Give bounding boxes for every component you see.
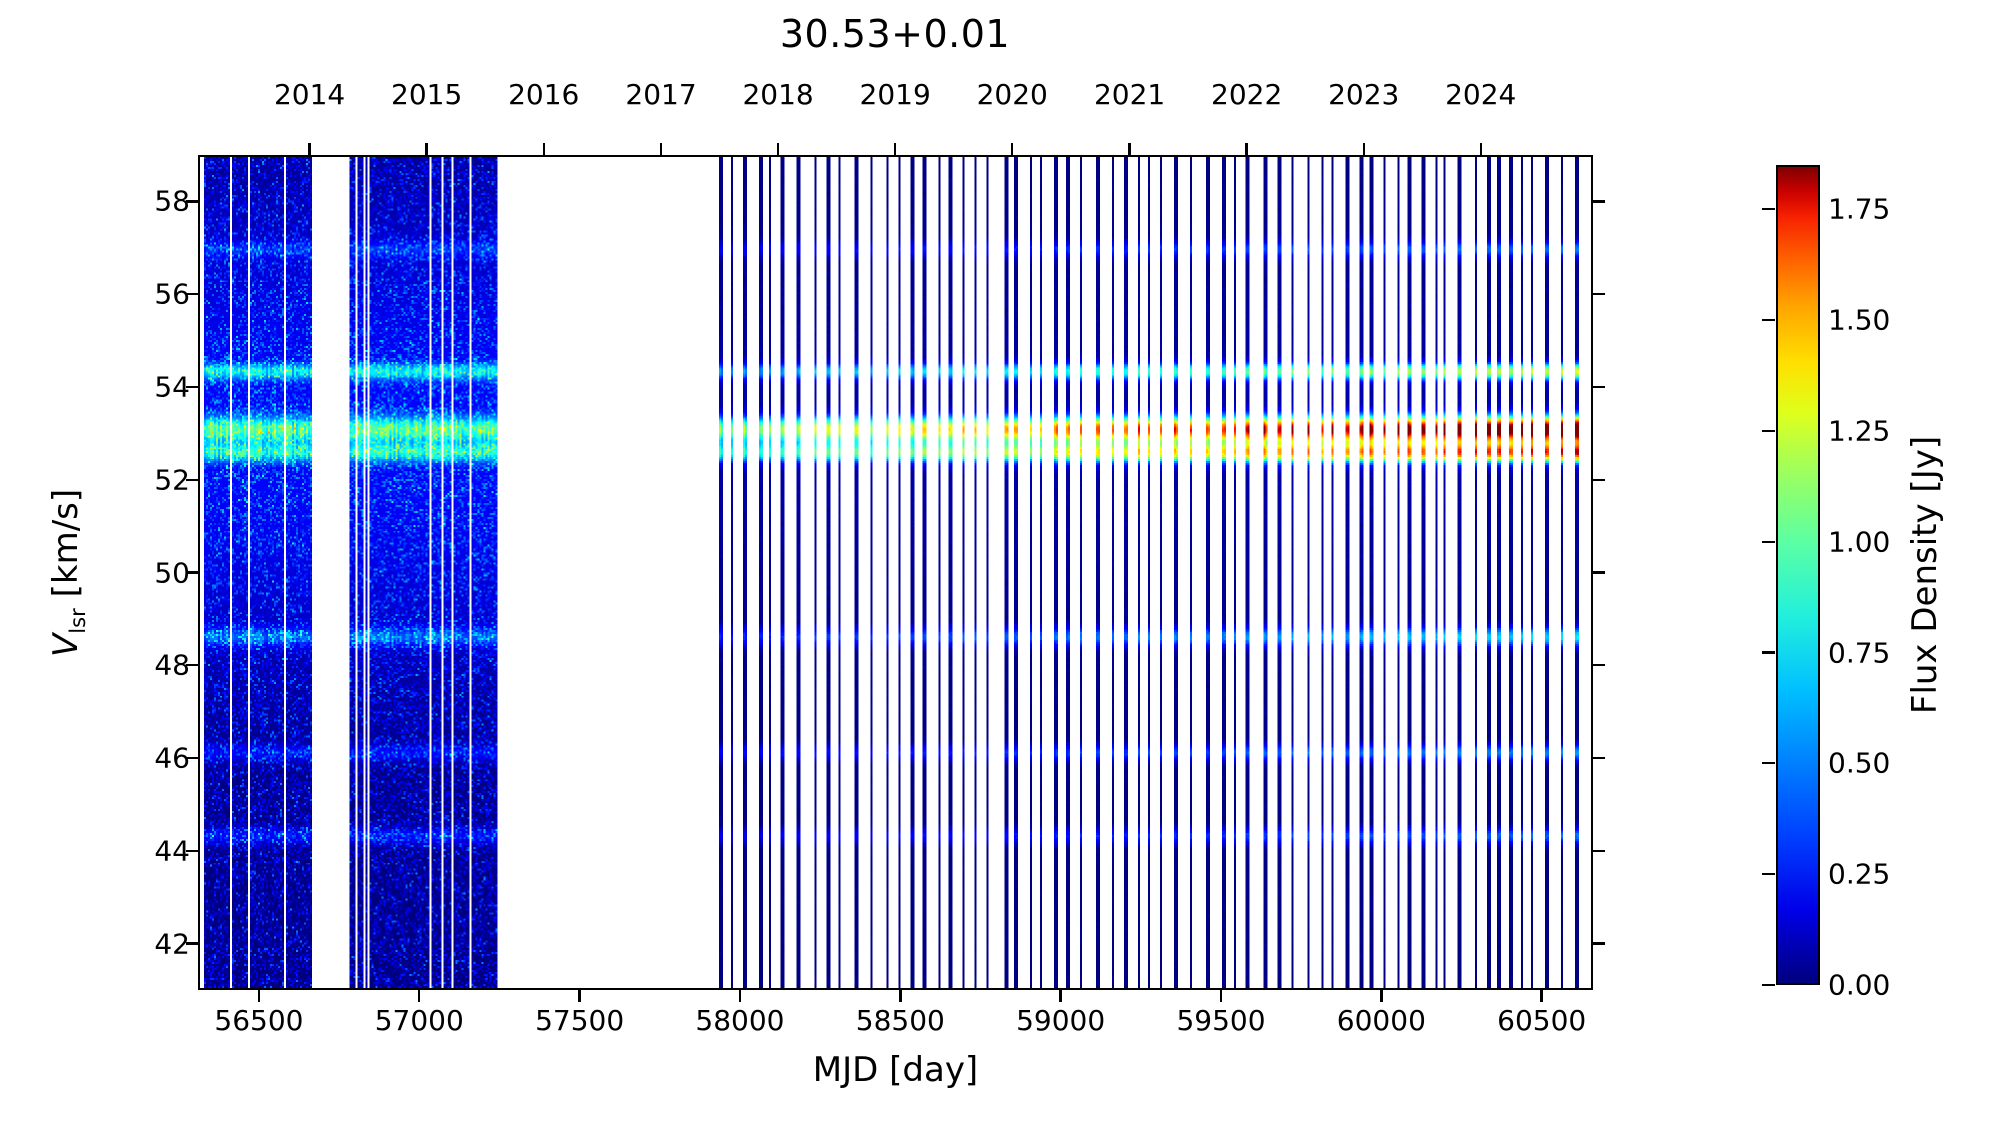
x-tick-label-top: 2015 xyxy=(391,78,462,111)
colorbar-tick-label: 0.50 xyxy=(1828,747,1890,780)
colorbar-tick xyxy=(1762,430,1775,432)
dynamic-spectrum-axes xyxy=(198,155,1593,990)
y-axis-symbol: V xyxy=(46,633,86,656)
y-tick-right xyxy=(1593,850,1605,852)
colorbar-tick-label: 0.75 xyxy=(1828,636,1890,669)
x-tick-bottom xyxy=(1380,990,1382,1002)
x-tick-bottom xyxy=(1059,990,1061,1002)
x-tick-top xyxy=(308,143,310,155)
x-tick-top xyxy=(777,143,779,155)
x-tick-top xyxy=(1363,143,1365,155)
y-tick-label: 54 xyxy=(154,370,190,403)
colorbar-tick xyxy=(1762,319,1775,321)
x-tick-label-bottom: 60000 xyxy=(1337,1004,1426,1037)
x-tick-label-bottom: 57500 xyxy=(535,1004,624,1037)
y-axis-subscript: lsr xyxy=(65,608,90,634)
y-tick-label: 48 xyxy=(154,649,190,682)
x-tick-label-bottom: 58500 xyxy=(856,1004,945,1037)
x-tick-label-top: 2020 xyxy=(977,78,1048,111)
colorbar-tick-label: 1.50 xyxy=(1828,304,1890,337)
y-tick-label: 42 xyxy=(154,927,190,960)
y-tick-label: 52 xyxy=(154,463,190,496)
colorbar-tick-label: 0.00 xyxy=(1828,969,1890,1002)
x-tick-label-bottom: 56500 xyxy=(214,1004,303,1037)
y-axis-title: Vlsr [km/s] xyxy=(46,155,90,990)
y-tick-right xyxy=(1593,479,1605,481)
x-tick-bottom xyxy=(1220,990,1222,1002)
x-tick-label-bottom: 59500 xyxy=(1176,1004,1265,1037)
colorbar-tick xyxy=(1762,873,1775,875)
colorbar-tick-label: 1.75 xyxy=(1828,193,1890,226)
colorbar-tick xyxy=(1762,541,1775,543)
colorbar-tick xyxy=(1762,762,1775,764)
y-tick-right xyxy=(1593,942,1605,944)
colorbar-tick xyxy=(1762,208,1775,210)
x-tick-bottom xyxy=(578,990,580,1002)
x-tick-top xyxy=(1480,143,1482,155)
y-tick-label: 58 xyxy=(154,185,190,218)
figure-canvas: 30.53+0.01 56500570005750058000585005900… xyxy=(0,0,2000,1125)
y-tick-label: 56 xyxy=(154,278,190,311)
colorbar-title-text: Flux Density [Jy] xyxy=(1905,436,1945,714)
x-tick-label-bottom: 57000 xyxy=(375,1004,464,1037)
x-tick-label-top: 2019 xyxy=(860,78,931,111)
x-tick-label-top: 2023 xyxy=(1328,78,1399,111)
x-tick-top xyxy=(1011,143,1013,155)
x-tick-top xyxy=(894,143,896,155)
y-tick-label: 44 xyxy=(154,834,190,867)
y-tick-label: 50 xyxy=(154,556,190,589)
y-tick-right xyxy=(1593,293,1605,295)
x-tick-label-top: 2017 xyxy=(625,78,696,111)
heatmap-image xyxy=(200,157,1591,988)
x-tick-bottom xyxy=(1540,990,1542,1002)
y-tick-right xyxy=(1593,200,1605,202)
x-tick-label-top: 2021 xyxy=(1094,78,1165,111)
colorbar-tick xyxy=(1762,651,1775,653)
colorbar-title: Flux Density [Jy] xyxy=(1900,165,1950,985)
x-tick-label-top: 2018 xyxy=(742,78,813,111)
y-tick-label: 46 xyxy=(154,742,190,775)
colorbar-tick xyxy=(1762,984,1775,986)
x-tick-bottom xyxy=(739,990,741,1002)
colorbar-tick-label: 1.25 xyxy=(1828,414,1890,447)
y-tick-right xyxy=(1593,664,1605,666)
x-tick-bottom xyxy=(418,990,420,1002)
x-tick-top xyxy=(425,143,427,155)
y-tick-right xyxy=(1593,571,1605,573)
x-tick-label-top: 2024 xyxy=(1445,78,1516,111)
x-tick-bottom xyxy=(899,990,901,1002)
y-axis-unit: [km/s] xyxy=(46,488,86,607)
y-tick-right xyxy=(1593,386,1605,388)
x-tick-top xyxy=(1245,143,1247,155)
x-tick-top xyxy=(543,143,545,155)
x-tick-label-top: 2016 xyxy=(508,78,579,111)
colorbar xyxy=(1776,165,1820,985)
colorbar-tick-label: 1.00 xyxy=(1828,525,1890,558)
x-tick-top xyxy=(1128,143,1130,155)
x-tick-label-bottom: 58000 xyxy=(695,1004,784,1037)
x-tick-label-bottom: 60500 xyxy=(1497,1004,1586,1037)
y-tick-right xyxy=(1593,757,1605,759)
colorbar-tick-label: 0.25 xyxy=(1828,858,1890,891)
spectrum-canvas xyxy=(200,157,1591,988)
x-tick-label-bottom: 59000 xyxy=(1016,1004,1105,1037)
x-axis-title: MJD [day] xyxy=(198,1050,1593,1090)
x-tick-label-top: 2022 xyxy=(1211,78,1282,111)
x-tick-bottom xyxy=(258,990,260,1002)
plot-title: 30.53+0.01 xyxy=(0,12,1790,56)
x-tick-label-top: 2014 xyxy=(274,78,345,111)
x-tick-top xyxy=(660,143,662,155)
